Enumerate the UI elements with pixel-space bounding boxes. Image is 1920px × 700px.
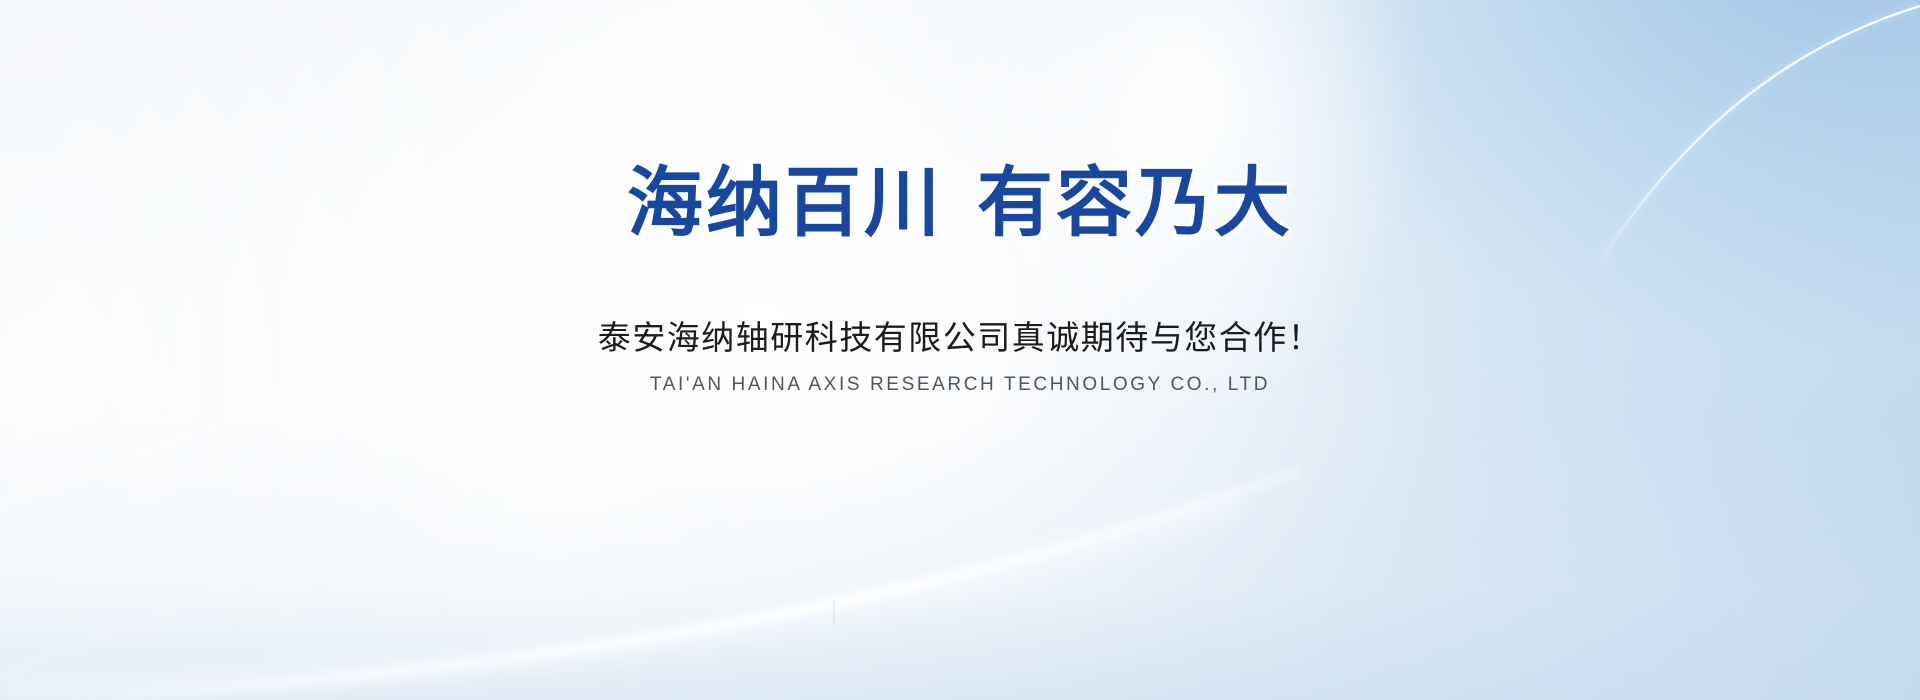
page-title: 海纳百川有容乃大 bbox=[627, 166, 1293, 242]
hero-banner: 海纳百川有容乃大 泰安海纳轴研科技有限公司真诚期待与您合作！ TAI'AN HA… bbox=[0, 0, 1920, 700]
headline-phrase-1: 海纳百川 bbox=[627, 161, 943, 246]
subtitle-chinese: 泰安海纳轴研科技有限公司真诚期待与您合作！ bbox=[598, 318, 1323, 358]
banner-content: 海纳百川有容乃大 泰安海纳轴研科技有限公司真诚期待与您合作！ TAI'AN HA… bbox=[0, 0, 1920, 700]
headline-phrase-2: 有容乃大 bbox=[977, 161, 1293, 246]
subtitle-english: TAI'AN HAINA AXIS RESEARCH TECHNOLOGY CO… bbox=[650, 374, 1270, 397]
